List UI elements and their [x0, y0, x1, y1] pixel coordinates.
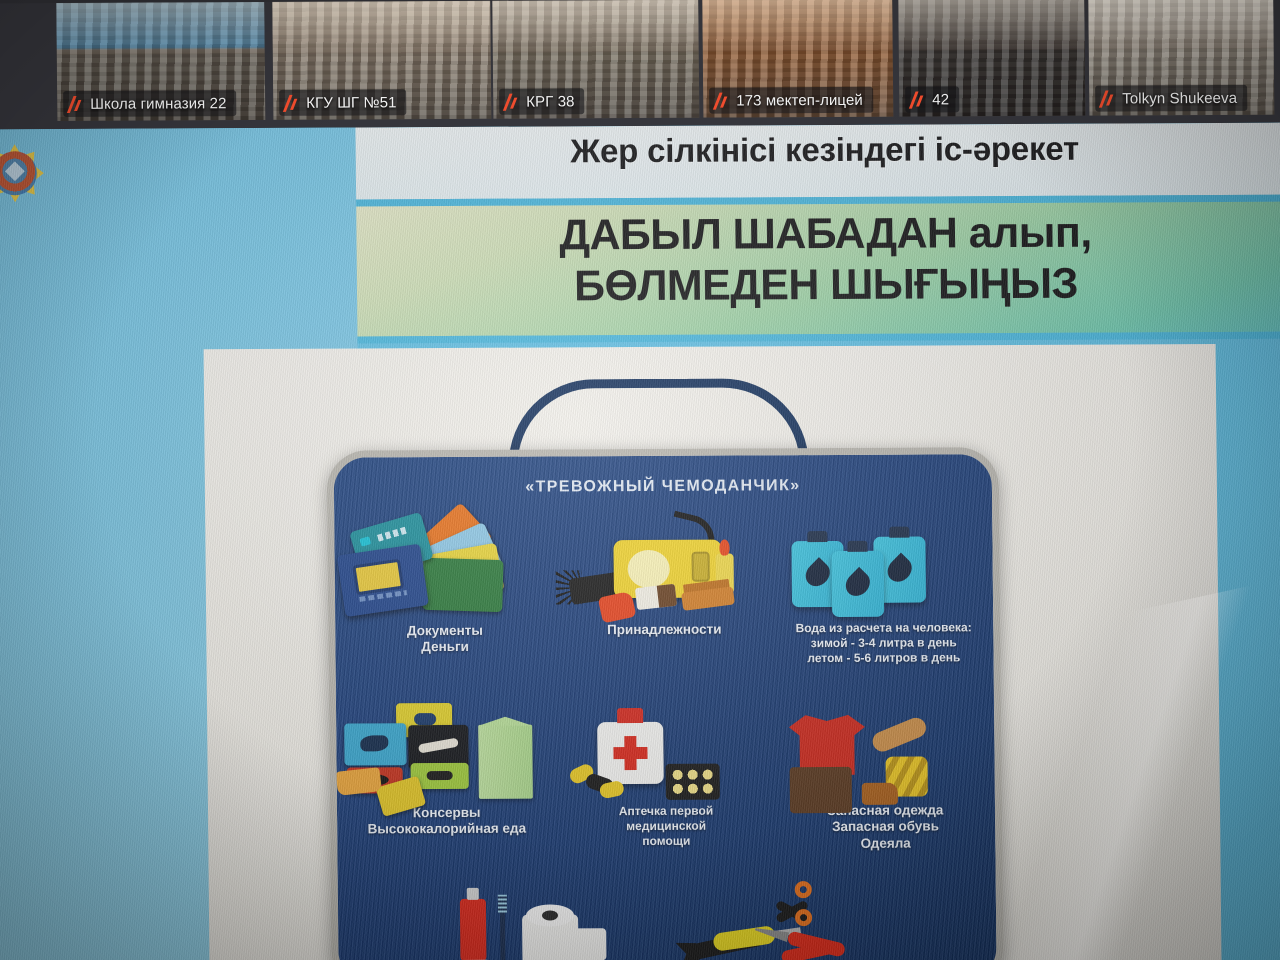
label-line: летом - 5-6 литров в день	[796, 650, 972, 666]
suitcase-item-water: Вода из расчета на человека: зимой - 3-4…	[773, 512, 994, 666]
participant-thumbnail[interactable]: КРГ 38	[492, 0, 699, 119]
label-line: Принадлежности	[607, 622, 722, 639]
suitcase-row-3: Средства гигиены Инструменты	[338, 874, 997, 960]
participant-namebar: КГУ ШГ №51	[279, 89, 407, 116]
suitcase-item-supplies: Принадлежности	[553, 513, 774, 667]
participant-thumbnail[interactable]: Tolkyn Shukeeva	[1088, 0, 1274, 116]
suitcase-row-1: Документы Деньги Принадлежност	[334, 512, 993, 668]
projector-wall: Школа гимназия 22 КГУ ШГ №51 КРГ 38	[0, 0, 1280, 960]
slide-subtitle: Жер сілкінісі кезіндегі іс-әрекет	[356, 129, 1280, 172]
suitcase-spacer	[910, 874, 997, 960]
item-label: Аптечка первой медицинской помощи	[619, 804, 714, 849]
suitcase-item-canned-food: Консервы Высококалорийная еда	[336, 696, 557, 855]
water-canisters-icon	[773, 512, 993, 617]
participant-name: 42	[932, 91, 949, 108]
suitcase-item-documents-money: Документы Деньги	[334, 514, 555, 668]
label-line: Вода из расчета на человека:	[795, 620, 971, 636]
zoom-logo-icon	[909, 91, 926, 108]
canned-food-icon	[336, 696, 556, 801]
participant-name: Tolkyn Shukeeva	[1122, 89, 1237, 107]
projected-slide: Жер сілкінісі кезіндегі іс-әрекет ДАБЫЛ …	[0, 123, 1280, 960]
participant-namebar: Tolkyn Shukeeva	[1095, 85, 1247, 112]
item-label: Вода из расчета на человека: зимой - 3-4…	[795, 620, 972, 666]
label-line: Деньги	[407, 639, 483, 656]
title-line-1: ДАБЫЛ ШАБАДАН алып,	[356, 207, 1280, 263]
participant-namebar: Школа гимназия 22	[63, 90, 237, 117]
documents-cards-icon	[334, 514, 554, 619]
suitcase-item-spare-clothing: Запасная одежда Запасная обувь Одеяла	[775, 694, 996, 853]
radio-flashlight-icon	[553, 513, 773, 618]
participant-name: КРГ 38	[526, 93, 574, 110]
emergency-suitcase-graphic: «ТРЕВОЖНЫЙ ЧЕМОДАНЧИК» Документы Деньги	[326, 399, 1004, 960]
participant-thumbnail[interactable]: 42	[898, 0, 1085, 117]
label-line: медицинской	[619, 819, 713, 834]
participant-namebar: 173 мектеп-лицей	[709, 87, 873, 114]
suitcase-item-first-aid: Аптечка первой медицинской помощи	[555, 695, 776, 854]
participant-thumbnail[interactable]: КГУ ШГ №51	[272, 1, 491, 120]
suitcase-caption: «ТРЕВОЖНЫЙ ЧЕМОДАНЧИК»	[334, 476, 992, 497]
zoom-participant-filmstrip: Школа гимназия 22 КГУ ШГ №51 КРГ 38	[0, 0, 1280, 133]
page-title: ДАБЫЛ ШАБАДАН алып, БӨЛМЕДЕН ШЫҒЫҢЫЗ	[356, 207, 1280, 313]
suitcase-body: «ТРЕВОЖНЫЙ ЧЕМОДАНЧИК» Документы Деньги	[327, 447, 1004, 960]
label-line: зимой - 3-4 литра в день	[796, 635, 972, 651]
label-line: помощи	[619, 834, 713, 849]
suitcase-spacer	[338, 877, 425, 960]
label-line: Запасная обувь	[827, 819, 943, 836]
suitcase-item-hygiene: Средства гигиены	[424, 876, 668, 960]
suitcase-item-tools: Инструменты	[667, 875, 911, 960]
label-line: Высококалорийная еда	[368, 821, 527, 838]
participant-thumbnail[interactable]: 173 мектеп-лицей	[702, 0, 893, 118]
item-label: Документы Деньги	[407, 623, 483, 656]
participant-namebar: 42	[905, 86, 959, 112]
hygiene-icon	[424, 876, 668, 960]
zoom-logo-icon	[713, 92, 730, 109]
participant-namebar: КРГ 38	[499, 88, 585, 114]
title-line-2: БӨЛМЕДЕН ШЫҒЫҢЫЗ	[357, 257, 1280, 313]
label-line: Аптечка первой	[619, 804, 713, 819]
label-line: Одеяла	[828, 835, 944, 852]
participant-name: КГУ ШГ №51	[306, 94, 397, 111]
first-aid-kit-icon	[555, 695, 775, 800]
kazakhstan-emblem-icon	[0, 142, 48, 204]
tools-icon	[667, 875, 911, 960]
participant-name: Школа гимназия 22	[90, 95, 226, 113]
zoom-logo-icon	[503, 93, 520, 110]
label-line: Документы	[407, 623, 483, 640]
screenshot-root: Школа гимназия 22 КГУ ШГ №51 КРГ 38	[0, 0, 1280, 960]
suitcase-row-2: Консервы Высококалорийная еда	[336, 694, 996, 855]
item-label: Принадлежности	[607, 622, 722, 639]
zoom-logo-icon	[1099, 90, 1116, 107]
zoom-logo-icon	[283, 94, 300, 111]
participant-thumbnail[interactable]: Школа гимназия 22	[56, 2, 265, 121]
participant-name: 173 мектеп-лицей	[736, 91, 863, 109]
zoom-logo-icon	[67, 95, 84, 112]
clothing-blanket-icon	[775, 694, 995, 799]
